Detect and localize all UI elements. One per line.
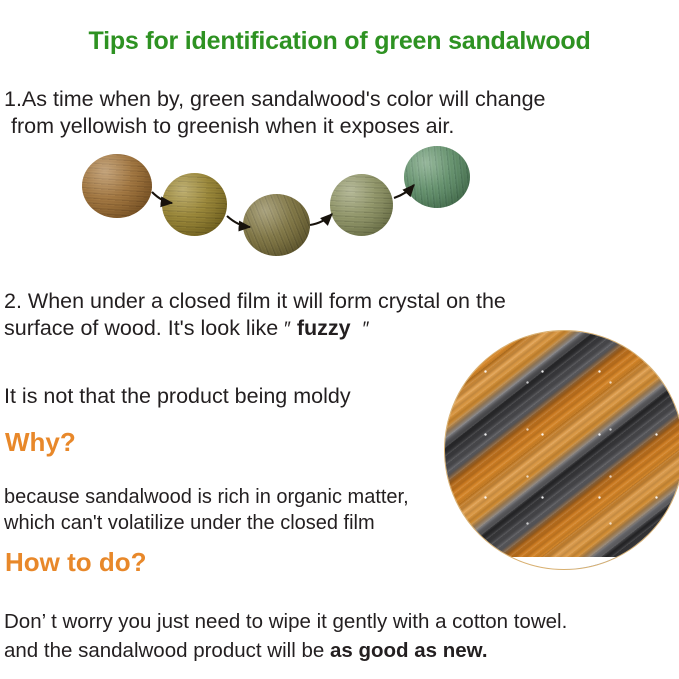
quote-open: ″ [284, 319, 291, 340]
arrow-3 [310, 214, 332, 225]
section-2-paragraph: 2. When under a closed film it will form… [4, 288, 506, 343]
section-2-line-1: 2. When under a closed film it will form… [4, 288, 506, 315]
how-to-do-heading: How to do? [5, 547, 147, 578]
section-1-paragraph: 1.As time when by, green sandalwood's co… [4, 86, 546, 140]
sandalwood-closeup-photo [444, 330, 679, 570]
infographic-page: Tips for identification of green sandalw… [0, 0, 679, 679]
arrow-1 [152, 192, 172, 203]
why-explanation: because sandalwood is rich in organic ma… [4, 484, 409, 536]
section-1-line-2: from yellowish to greenish when it expos… [4, 113, 546, 140]
fuzzy-emphasis: fuzzy [297, 316, 351, 340]
arrow-2 [227, 216, 250, 227]
why-explanation-line-2: which can't volatilize under the closed … [4, 510, 409, 536]
quote-close: ″ [363, 319, 370, 340]
as-good-as-new-emphasis: as good as new. [330, 639, 488, 662]
section-2-line-2-prefix: surface of wood. It's look like [4, 316, 284, 340]
how-to-do-line-1: Don’ t worry you just need to wipe it ge… [4, 607, 567, 636]
page-title: Tips for identification of green sandalw… [0, 27, 679, 56]
moldy-statement-text: It is not that the product being moldy [4, 383, 351, 410]
section-1-line-1: 1.As time when by, green sandalwood's co… [4, 86, 546, 113]
why-explanation-line-1: because sandalwood is rich in organic ma… [4, 484, 409, 510]
wood-aging-sequence [60, 140, 520, 270]
how-to-do-explanation: Don’ t worry you just need to wipe it ge… [4, 607, 567, 665]
sequence-arrows [60, 140, 520, 270]
photo-bottom-clip [445, 557, 679, 569]
how-to-do-line-2-prefix: and the sandalwood product will be [4, 639, 330, 662]
moldy-statement: It is not that the product being moldy [4, 383, 351, 410]
why-heading: Why? [5, 427, 76, 458]
crystal-speck-texture [445, 331, 679, 569]
arrow-4 [394, 185, 414, 198]
